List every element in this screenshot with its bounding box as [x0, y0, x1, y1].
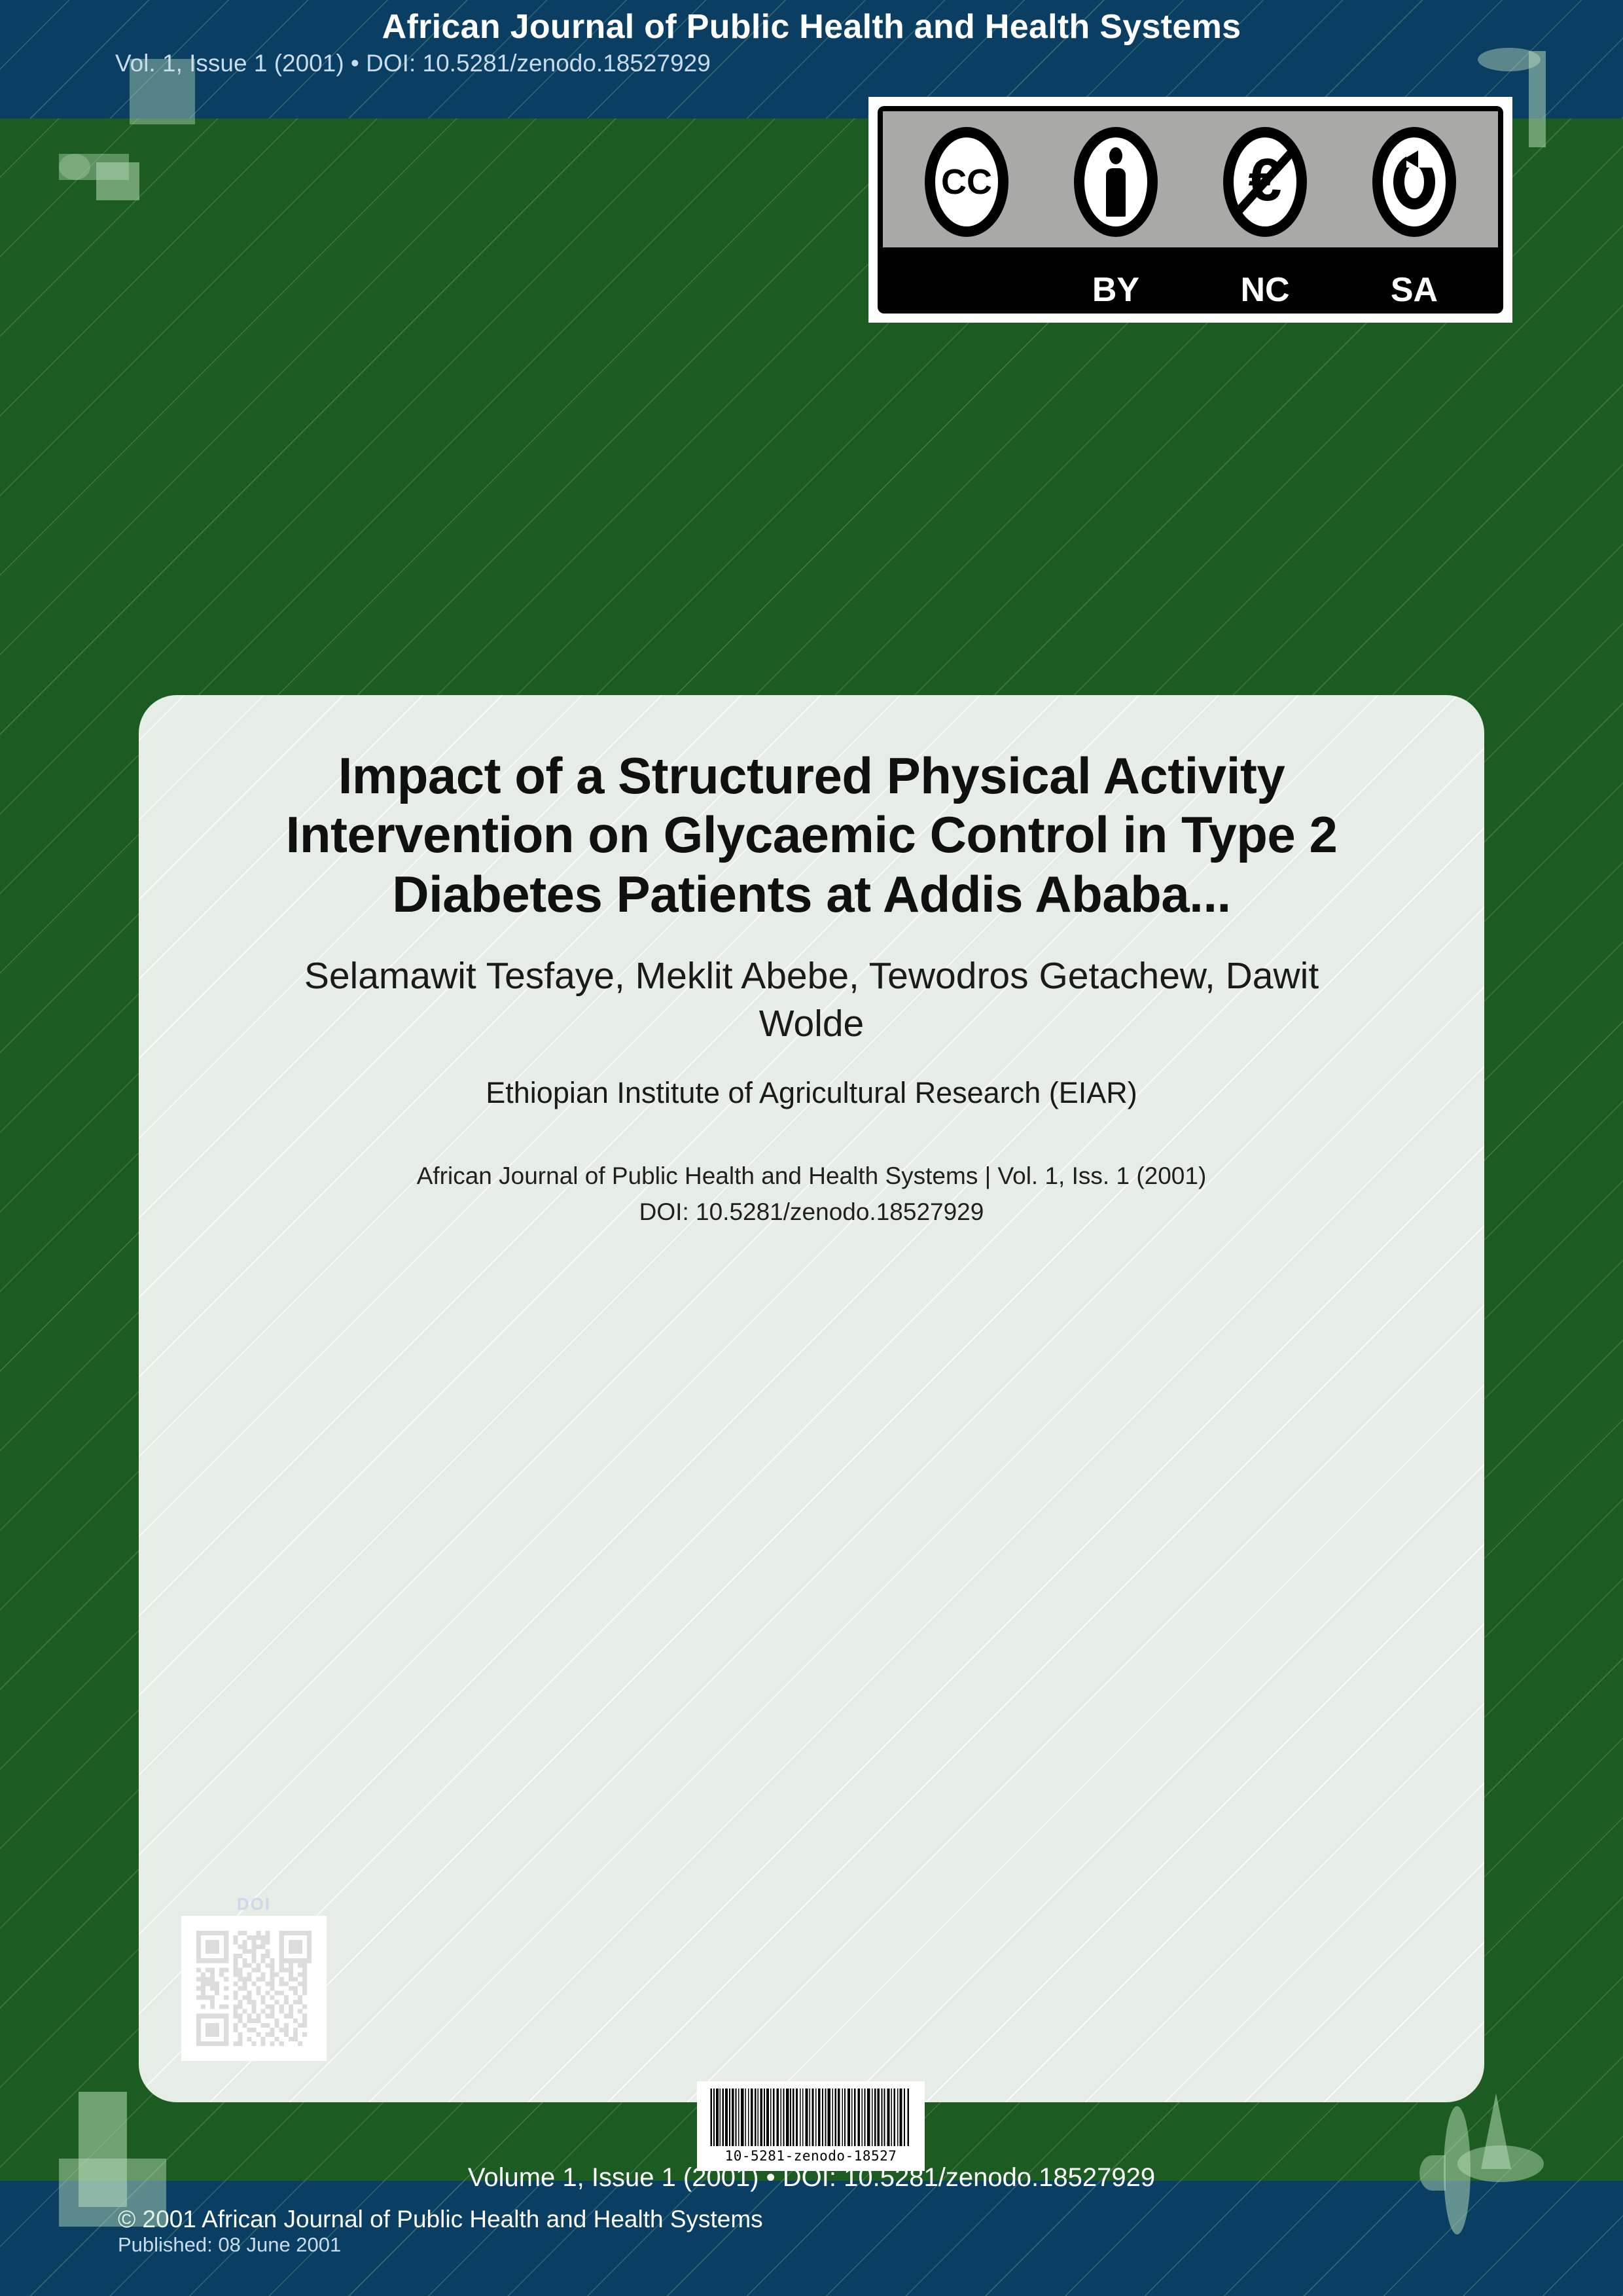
cc-label-sa: SA	[1372, 270, 1456, 310]
journal-cover-page: African Journal of Public Health and Hea…	[0, 0, 1623, 2296]
barcode-text: 10-5281-zenodo-18527	[725, 2148, 897, 2164]
person-body-icon	[1106, 168, 1126, 217]
cc-by-nc-sa-badge[interactable]: CC €	[868, 97, 1512, 323]
doi-barcode: 10-5281-zenodo-18527	[697, 2081, 925, 2171]
cc-label-nc: NC	[1223, 270, 1307, 310]
journal-title: African Journal of Public Health and Hea…	[0, 8, 1623, 46]
arrow-head-icon	[1404, 151, 1418, 168]
cc-badge-inner: CC €	[878, 106, 1503, 314]
cc-icon-row: CC €	[878, 111, 1503, 253]
doi-qr-code[interactable]	[181, 1916, 327, 2061]
sharealike-arrow-icon	[1372, 127, 1456, 237]
qr-label: DOI	[181, 1894, 327, 1914]
cc-label-row: -- BY NC SA	[878, 270, 1503, 310]
decor-triangle-bottom-right	[1481, 2093, 1511, 2169]
decor-square-top-left-2	[96, 162, 139, 200]
barcode-bars	[709, 2089, 912, 2146]
issue-doi-line: Vol. 1, Issue 1 (2001) • DOI: 10.5281/ze…	[115, 50, 711, 77]
card-content: Impact of a Structured Physical Activity…	[139, 695, 1484, 1226]
cc-logo-label: CC	[941, 164, 992, 200]
noncommercial-euro-slash-icon: €	[1223, 127, 1307, 237]
decor-bar-top-left	[59, 154, 129, 180]
decor-ellipse-top-left	[59, 154, 90, 180]
author-list: Selamawit Tesfaye, Meklit Abebe, Tewodro…	[263, 952, 1360, 1048]
published-date: Published: 08 June 2001	[118, 2233, 341, 2257]
copyright-line: © 2001 African Journal of Public Health …	[118, 2206, 763, 2233]
cover-card: Impact of a Structured Physical Activity…	[139, 695, 1484, 2102]
journal-reference: African Journal of Public Health and Hea…	[263, 1160, 1360, 1193]
cc-label-by: BY	[1074, 270, 1158, 310]
person-head-icon	[1109, 147, 1122, 164]
affiliation: Ethiopian Institute of Agricultural Rese…	[263, 1074, 1360, 1113]
article-title: Impact of a Structured Physical Activity…	[263, 746, 1360, 924]
doi-reference: DOI: 10.5281/zenodo.18527929	[263, 1198, 1360, 1226]
qr-block[interactable]: DOI	[181, 1894, 327, 2061]
attribution-person-icon	[1074, 127, 1158, 237]
cc-logo-icon: CC	[925, 127, 1008, 237]
footer-band: © 2001 African Journal of Public Health …	[0, 2181, 1623, 2296]
